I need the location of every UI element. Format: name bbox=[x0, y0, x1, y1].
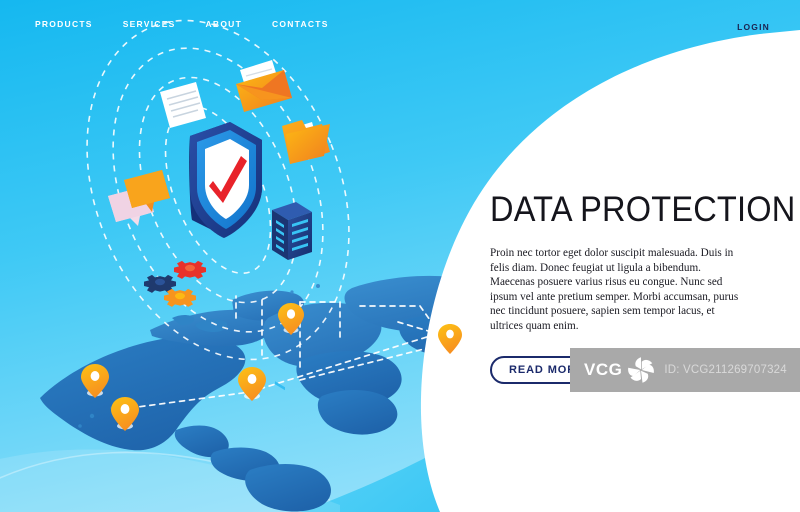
nav-item-contacts[interactable]: CONTACTS bbox=[272, 19, 329, 29]
top-navigation: PRODUCTS SERVICES ABOUT CONTACTS LOGIN bbox=[0, 0, 800, 48]
document-icon bbox=[160, 82, 206, 128]
pinwheel-icon bbox=[626, 355, 656, 385]
nav-item-products[interactable]: PRODUCTS bbox=[35, 19, 93, 29]
nav-links: PRODUCTS SERVICES ABOUT CONTACTS bbox=[35, 19, 359, 29]
shield-check-icon bbox=[189, 122, 262, 238]
chat-bubble-icon bbox=[108, 170, 170, 226]
hero-paragraph: Proin nec tortor eget dolor suscipit mal… bbox=[490, 246, 748, 334]
nav-item-services[interactable]: SERVICES bbox=[123, 19, 176, 29]
landing-page: PRODUCTS SERVICES ABOUT CONTACTS LOGIN D… bbox=[0, 0, 800, 512]
watermark-bar: VCG ID: VCG211269707324 bbox=[570, 348, 800, 392]
map-pin-icon bbox=[238, 367, 266, 401]
folder-icon bbox=[282, 120, 330, 164]
vcg-logo: VCG bbox=[584, 360, 622, 380]
login-link[interactable]: LOGIN bbox=[737, 22, 770, 32]
envelope-icon bbox=[236, 60, 292, 112]
nav-item-about[interactable]: ABOUT bbox=[206, 19, 242, 29]
page-title: DATA PROTECTION bbox=[490, 190, 734, 230]
gears-icon bbox=[144, 261, 206, 307]
watermark-id: ID: VCG211269707324 bbox=[664, 364, 787, 376]
